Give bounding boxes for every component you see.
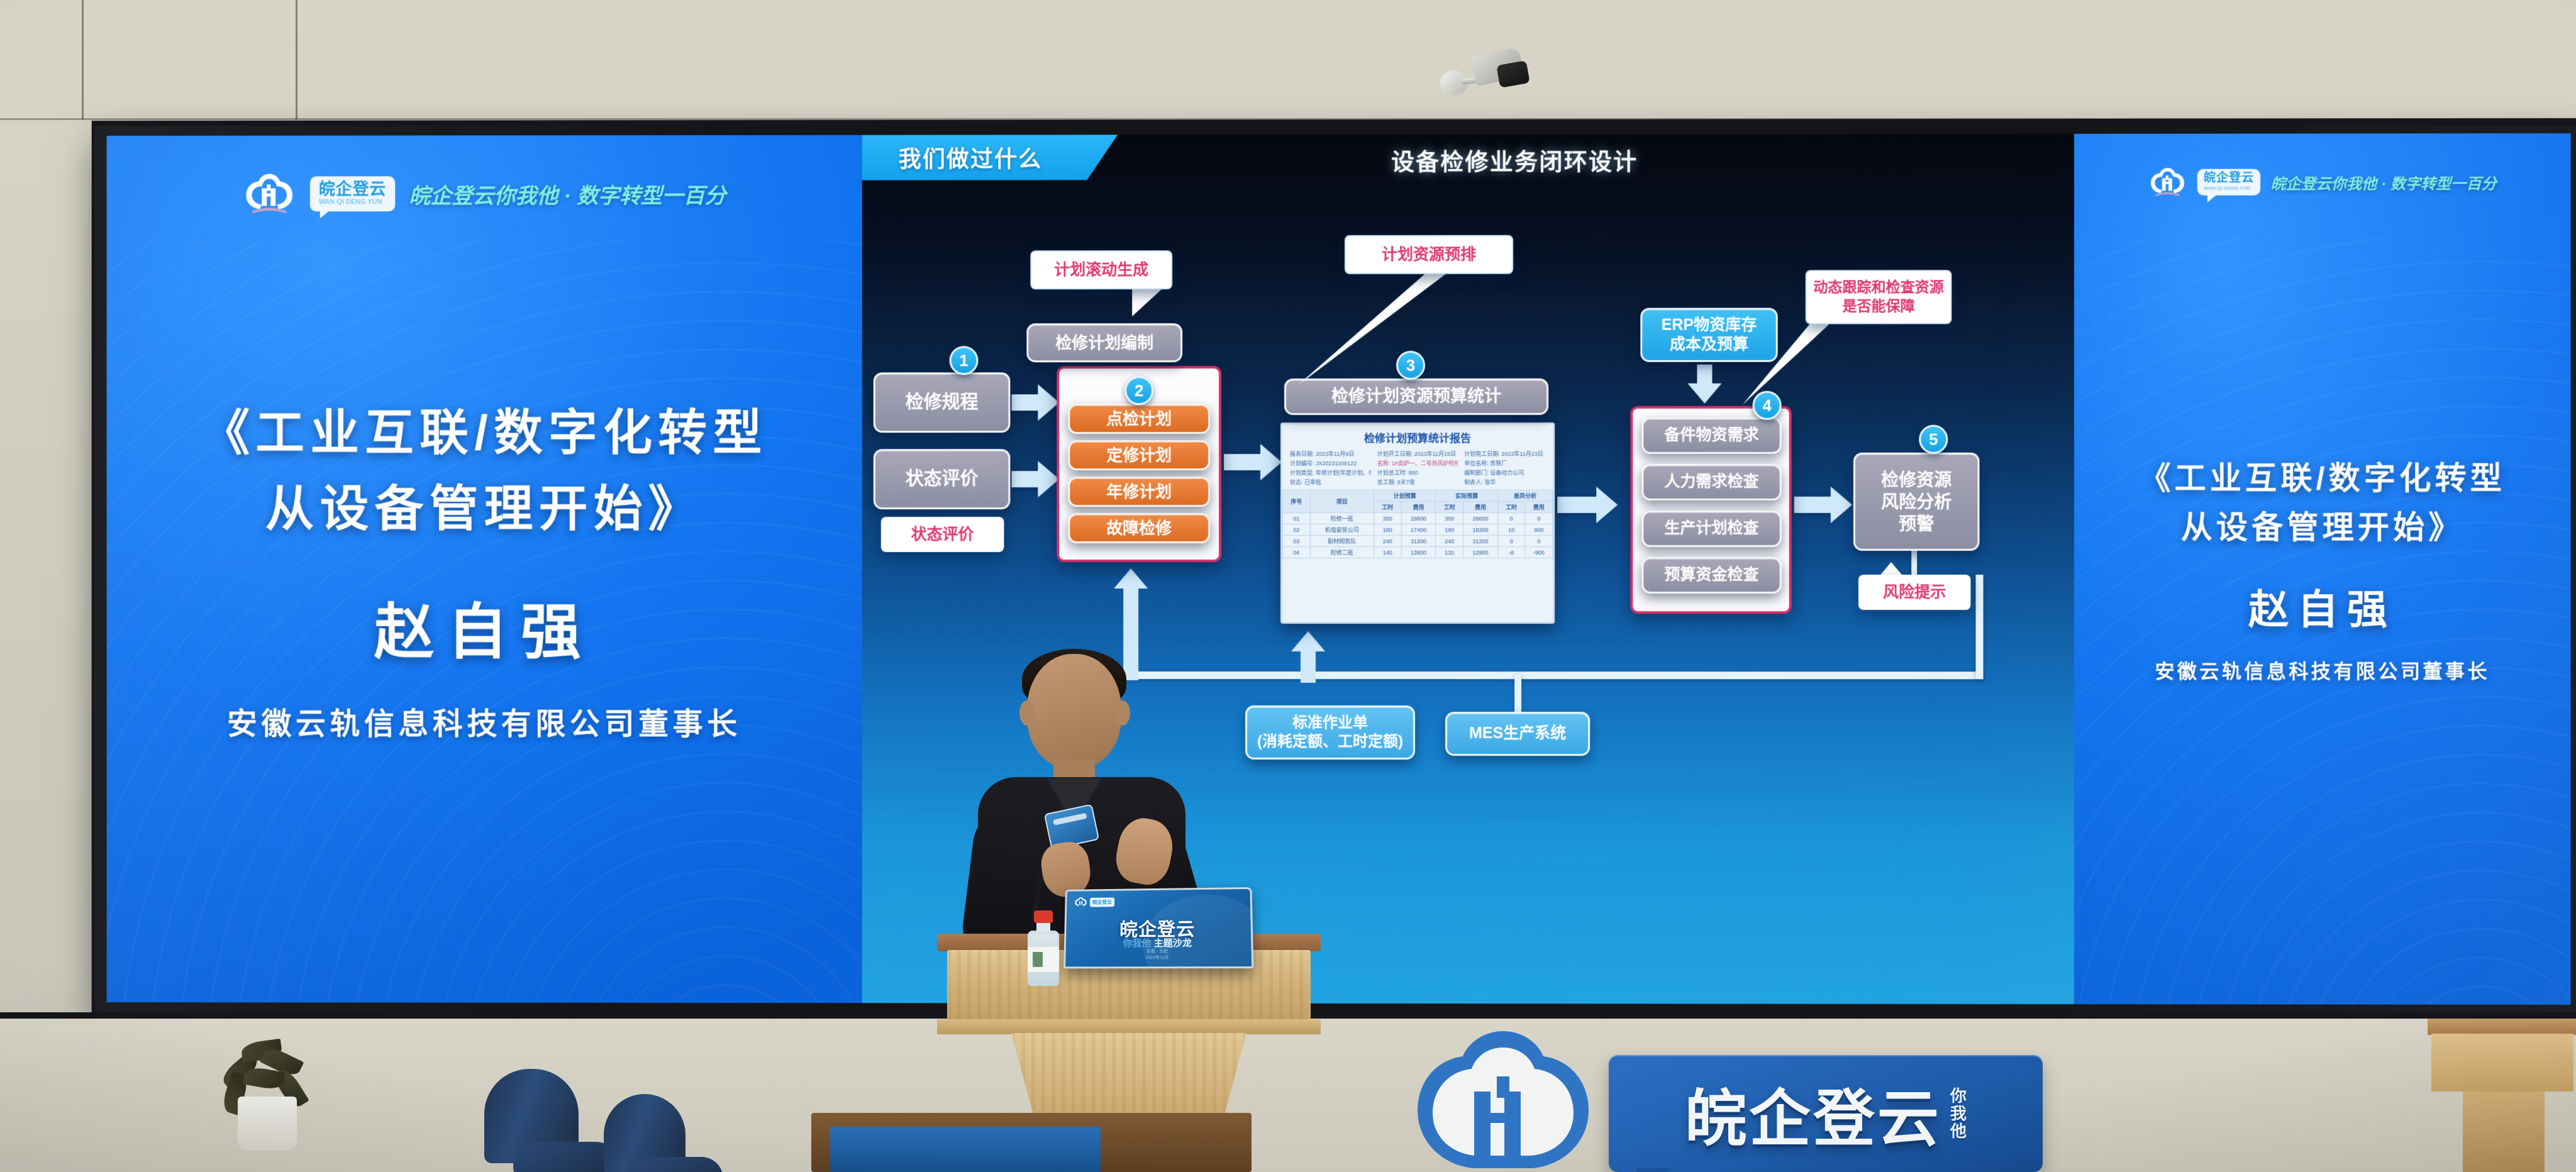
left-panel-speaker-name: 赵自强 xyxy=(374,583,594,670)
node-standard-work-order: 标准作业单 (消耗定额、工时定额) xyxy=(1245,705,1415,760)
left-panel-content: 《工业互联/数字化转型 从设备管理开始》 赵自强 安徽云轨信息科技有限公司董事长 xyxy=(107,135,862,1003)
potted-plant xyxy=(208,1025,327,1151)
node-spare-parts-demand: 备件物资需求 xyxy=(1641,417,1781,454)
report-table: 序号 项目 计划预算 实际预算 差异分析 工时 费用 工时 费用 工时 xyxy=(1282,490,1553,558)
report-table-cell: 240 xyxy=(1436,535,1463,546)
left-panel-speaker-org: 安徽云轨信息科技有限公司董事长 xyxy=(227,699,741,743)
report-table-cell: 31200 xyxy=(1401,535,1436,546)
step-badge-4: 4 xyxy=(1753,391,1782,420)
report-meta-item: 名称: 1#高炉一、二号热风炉检修 xyxy=(1377,459,1458,467)
signage-side-line2: 我 xyxy=(1950,1105,1967,1122)
report-meta-item: 编制部门: 设备动力公司 xyxy=(1464,468,1545,477)
node-repair-procedure: 检修规程 xyxy=(874,372,1011,433)
report-table-cell: 240 xyxy=(1374,535,1402,546)
arrow-procedure-to-plan xyxy=(1011,384,1059,421)
report-table-cell: 31200 xyxy=(1463,535,1498,546)
embedded-report-screenshot: 检修计划预算统计报告 报表日期: 2023年11月9日 计划开工日期: 2023… xyxy=(1280,423,1555,624)
brand-slogan: 皖企登云你我他 · 数字转型一百分 xyxy=(2271,171,2497,193)
right-panel-speaker-org: 安徽云轨信息科技有限公司董事长 xyxy=(2155,655,2490,683)
report-col-header: 工时 xyxy=(1436,501,1463,512)
report-table-cell: -900 xyxy=(1525,546,1553,558)
report-meta-item: 计划完工日期: 2023年11月23日 xyxy=(1464,450,1545,458)
node-inspection-plan: 点检计划 xyxy=(1068,404,1210,434)
brand-badge: 皖企登云 WAN QI DENG YUN xyxy=(310,176,395,211)
node-risk-analysis-line2: 风险分析 xyxy=(1881,490,1951,512)
water-bottle xyxy=(1026,910,1060,986)
report-meta-item: 总工期: 8天7夜 xyxy=(1377,478,1458,486)
report-table-cell: 0 xyxy=(1525,535,1553,546)
right-panel-speaker-name: 赵自强 xyxy=(2248,577,2396,635)
arrow-report-to-check xyxy=(1557,485,1618,524)
report-table-cell: 耐材砌筑队 xyxy=(1310,535,1374,546)
report-group-header: 实际预算 xyxy=(1436,490,1497,501)
node-budget-funds-check: 预算资金检查 xyxy=(1641,557,1781,594)
report-col-header: 工时 xyxy=(1374,501,1402,512)
report-table-cell: 13800 xyxy=(1401,546,1436,558)
report-meta-item: 计划编号: JX20231109123 xyxy=(1290,459,1371,467)
feedback-rail-right xyxy=(1975,575,1983,679)
signage-main-text: 皖企登云 xyxy=(1685,1069,1941,1158)
left-panel-title: 《工业互联/数字化转型 从设备管理开始》 xyxy=(201,395,767,547)
report-table-cell: 0 xyxy=(1497,535,1525,546)
node-erp-inventory-line2: 成本及预算 xyxy=(1670,335,1748,355)
feedback-rail-horizontal xyxy=(1112,672,1983,679)
brand-badge: 皖企登云 WAN QI DENG YUN xyxy=(2197,169,2260,196)
slide-section-tab: 我们做过什么 xyxy=(862,135,1118,180)
node-risk-analysis-line1: 检修资源 xyxy=(1881,468,1951,490)
report-table-cell: 检修一班 xyxy=(1310,512,1374,524)
side-table xyxy=(2428,1019,2576,1172)
laptop-subtitle: 你我他 主题沙龙 xyxy=(1066,936,1252,950)
node-standard-work-order-line2: (消耗定额、工时定额) xyxy=(1257,732,1403,751)
led-video-wall: 皖企登云 WAN QI DENG YUN 皖企登云你我他 · 数字转型一百分 《… xyxy=(98,124,2576,1014)
signage-cloud-logo-icon xyxy=(1409,1026,1597,1172)
left-panel-brandbar: 皖企登云 WAN QI DENG YUN 皖企登云你我他 · 数字转型一百分 xyxy=(107,172,862,216)
report-table-cell: 17400 xyxy=(1401,524,1436,535)
node-fault-repair: 故障检修 xyxy=(1068,513,1210,543)
report-table-cell: 900 xyxy=(1525,524,1553,535)
step-badge-5: 5 xyxy=(1919,425,1948,454)
laptop-brand-badge: 皖企登云 xyxy=(1090,897,1114,907)
report-table-cell: 300 xyxy=(1436,512,1463,524)
node-risk-analysis-line3: 预警 xyxy=(1899,512,1934,534)
report-table-cell: 04 xyxy=(1283,547,1311,558)
report-meta: 报表日期: 2023年11月9日 计划开工日期: 2023年11月15日 计划完… xyxy=(1282,448,1553,490)
report-group-header: 计划预算 xyxy=(1374,490,1436,501)
report-table-cell: 132 xyxy=(1436,546,1463,558)
callout-resource-preschedule: 计划资源预排 xyxy=(1345,235,1513,274)
report-title: 检修计划预算统计报告 xyxy=(1282,424,1553,448)
brand-badge-subtext: WAN QI DENG YUN xyxy=(2204,186,2254,191)
report-meta-item: 制表人: 张华 xyxy=(1464,478,1545,486)
report-meta-item: 计划开工日期: 2023年11月15日 xyxy=(1377,450,1458,458)
callout-plan-rolling: 计划滚动生成 xyxy=(1030,250,1172,289)
report-group-header: 差异分析 xyxy=(1497,490,1552,501)
arrow-check-to-risk xyxy=(1794,485,1852,524)
report-table-cell: 28600 xyxy=(1401,512,1436,524)
report-meta-item: 单位名称: 炼铁厂 xyxy=(1464,459,1545,467)
callout-risk-tip: 风险提示 xyxy=(1858,575,1970,610)
report-table-cell: 0 xyxy=(1525,512,1553,524)
report-col-header: 工时 xyxy=(1497,501,1525,512)
laptop-subtitle-dim: 你我他 xyxy=(1123,938,1152,949)
callout-dynamic-track: 动态跟踪和检查资源是否能保障 xyxy=(1806,270,1952,324)
left-panel-title-line1: 《工业互联/数字化转型 xyxy=(201,395,767,471)
node-scheduled-repair-plan: 定修计划 xyxy=(1068,440,1210,470)
report-table-cell: 检修二班 xyxy=(1310,546,1374,558)
signage-side-line3: 他 xyxy=(1950,1122,1967,1140)
report-col-header: 项目 xyxy=(1310,490,1374,512)
report-table-cell: 18300 xyxy=(1463,524,1498,535)
report-meta-item: 状态: 已审批 xyxy=(1290,478,1371,486)
report-table-cell: -8 xyxy=(1497,546,1525,558)
arrow-plan-to-report xyxy=(1224,443,1282,482)
report-table-cell: 140 xyxy=(1374,546,1402,558)
brand-badge-subtext: WAN QI DENG YUN xyxy=(319,199,387,206)
node-manpower-check: 人力需求检查 xyxy=(1641,464,1781,500)
report-col-header: 序号 xyxy=(1283,490,1311,513)
report-col-header: 费用 xyxy=(1401,501,1436,512)
callout-resource-preschedule-tail xyxy=(1291,272,1479,397)
report-table-row: 01检修一班300286003002860000 xyxy=(1283,512,1553,524)
report-table-cell: 190 xyxy=(1436,524,1463,535)
brand-slogan: 皖企登云你我他 · 数字转型一百分 xyxy=(409,178,726,209)
report-table-cell: 300 xyxy=(1374,512,1402,524)
signage-side-line1: 你 xyxy=(1950,1087,1967,1105)
conference-room-photo: 皖企登云 WAN QI DENG YUN 皖企登云你我他 · 数字转型一百分 《… xyxy=(0,0,2576,1172)
front-table-skirt xyxy=(830,1127,1101,1172)
signage-side-text: 你 我 他 xyxy=(1950,1087,1967,1140)
right-panel-title-line2: 从设备管理开始》 xyxy=(2139,503,2506,552)
node-status-evaluation: 状态评价 xyxy=(874,449,1011,509)
laptop-footer: 安徽 · 合肥 2023年11月 xyxy=(1065,949,1252,962)
report-table-cell: 12900 xyxy=(1463,546,1498,558)
laptop-brand-logo: 皖企登云 xyxy=(1074,897,1114,908)
stage-signage: 皖企登云 你 我 他 xyxy=(1409,1005,2075,1172)
report-meta-item: 计划总工时: 860 xyxy=(1377,468,1458,477)
brand-badge-text: 皖企登云 xyxy=(319,179,387,198)
node-production-plan-check: 生产计划检查 xyxy=(1641,511,1781,547)
node-standard-work-order-line1: 标准作业单 xyxy=(1292,714,1368,732)
step-badge-1: 1 xyxy=(950,346,979,375)
report-meta-item: 计划类型: 年修计划(年度计划、季度计划) xyxy=(1290,468,1371,477)
report-table-cell: 0 xyxy=(1497,512,1525,524)
right-panel-title: 《工业互联/数字化转型 从设备管理开始》 xyxy=(2139,455,2506,552)
report-table-cell: 机电安装公司 xyxy=(1310,524,1374,535)
report-table-cell: 180 xyxy=(1374,524,1402,535)
arrow-status-to-plan xyxy=(1011,460,1059,498)
cloud-logo-icon xyxy=(242,172,296,216)
report-col-header: 费用 xyxy=(1463,501,1498,512)
report-table-row: 04检修二班1401380013212900-8-900 xyxy=(1283,546,1553,558)
right-panel-content: 《工业互联/数字化转型 从设备管理开始》 赵自强 安徽云轨信息科技有限公司董事长 xyxy=(2074,133,2571,1005)
report-table-row: 02机电安装公司180174001901830010900 xyxy=(1283,524,1553,535)
node-risk-analysis: 检修资源 风险分析 预警 xyxy=(1853,453,1980,551)
podium-laptop-screen[interactable]: 皖企登云 皖企登云 你我他 主题沙龙 安徽 · 合肥 2023年11月 xyxy=(1063,887,1253,968)
arrow-standard-order-up xyxy=(1291,631,1326,682)
laptop-subtitle-bright: 主题沙龙 xyxy=(1154,938,1192,949)
node-mes-system: MES生产系统 xyxy=(1445,712,1590,756)
signage-plate: 皖企登云 你 我 他 xyxy=(1609,1055,2043,1172)
step-badge-3: 3 xyxy=(1396,351,1425,380)
report-table-cell: 01 xyxy=(1283,513,1311,524)
node-annual-repair-plan: 年修计划 xyxy=(1068,477,1210,507)
left-title-panel: 皖企登云 WAN QI DENG YUN 皖企登云你我他 · 数字转型一百分 《… xyxy=(107,135,862,1003)
report-table-cell: 03 xyxy=(1283,536,1311,547)
report-col-header: 费用 xyxy=(1525,501,1553,512)
right-title-panel: 皖企登云 WAN QI DENG YUN 皖企登云你我他 · 数字转型一百分 《… xyxy=(2074,133,2571,1005)
security-camera-icon xyxy=(1440,38,1528,94)
right-panel-title-line1: 《工业互联/数字化转型 xyxy=(2139,455,2506,504)
callout-plan-rolling-tail xyxy=(1132,289,1162,316)
callout-status-eval: 状态评价 xyxy=(881,517,1004,552)
report-table-cell: 02 xyxy=(1283,524,1311,536)
report-meta-item: 报表日期: 2023年11月9日 xyxy=(1290,450,1371,458)
report-table-cell: 10 xyxy=(1497,524,1525,535)
left-panel-title-line2: 从设备管理开始》 xyxy=(201,471,767,547)
laptop-footer-line2: 2023年11月 xyxy=(1065,955,1252,962)
step-badge-2: 2 xyxy=(1124,376,1153,405)
node-plan-compile: 检修计划编制 xyxy=(1026,323,1182,362)
report-table-cell: 28600 xyxy=(1463,512,1498,524)
report-table-row: 03耐材砌筑队240312002403120000 xyxy=(1283,535,1553,546)
mes-connector xyxy=(1514,674,1521,713)
arrow-erp-down xyxy=(1685,365,1723,404)
brand-badge-text: 皖企登云 xyxy=(2204,172,2254,185)
